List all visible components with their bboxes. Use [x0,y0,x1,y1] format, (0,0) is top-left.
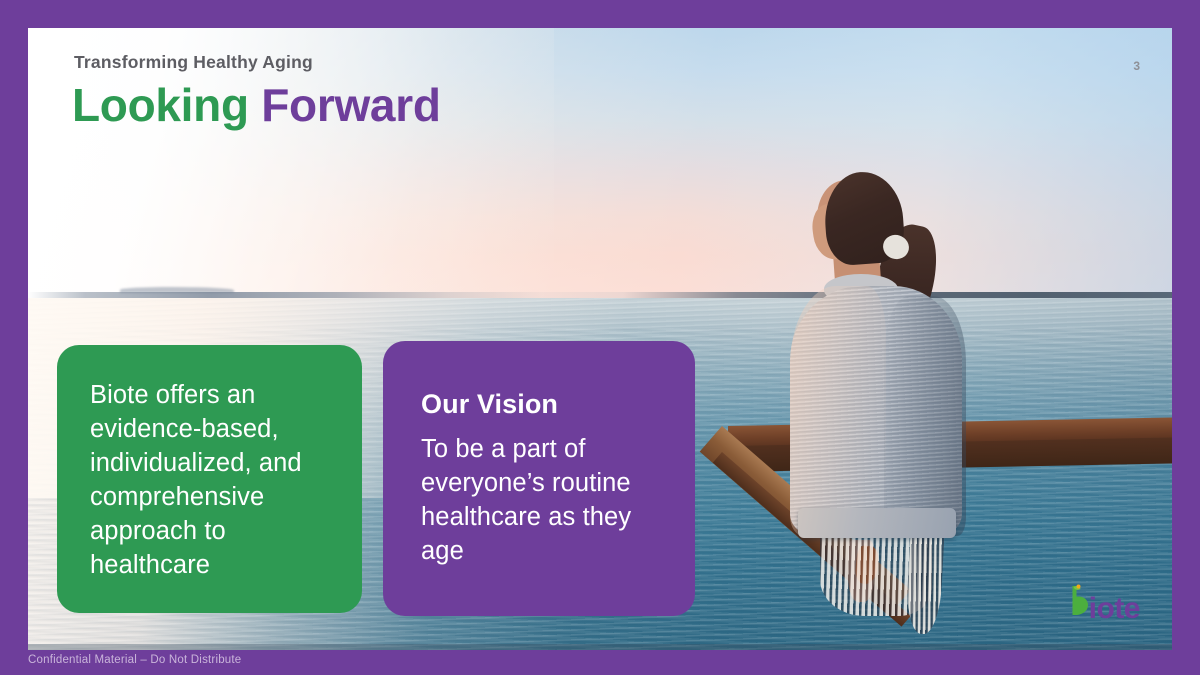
page-number: 3 [1133,59,1140,73]
biote-leaf-icon [1065,584,1091,618]
slide-eyebrow: Transforming Healthy Aging [74,52,313,73]
card-value-proposition-body: Biote offers an evidence-based, individu… [90,379,336,582]
sweater-shadow [884,296,966,536]
sweater-highlight [790,286,886,536]
card-our-vision-title: Our Vision [421,389,669,420]
page-title: Looking Forward [72,78,441,132]
card-our-vision-body: To be a part of everyone’s routine healt… [421,433,669,569]
confidentiality-footer: Confidential Material – Do Not Distribut… [28,654,241,666]
sweater-hem [798,508,956,538]
biote-wordmark: iote [1089,592,1140,626]
patterned-scarf [905,525,945,635]
photo-bottom-edge [28,644,1172,650]
biote-logo: iote [1065,584,1140,618]
card-our-vision: Our Vision To be a part of everyone’s ro… [383,341,695,616]
card-value-proposition: Biote offers an evidence-based, individu… [57,345,362,613]
slide: 3 iote Transforming Healthy Aging Lookin… [0,0,1200,675]
page-title-part-green: Looking [72,79,249,131]
page-title-part-purple: Forward [261,79,440,131]
